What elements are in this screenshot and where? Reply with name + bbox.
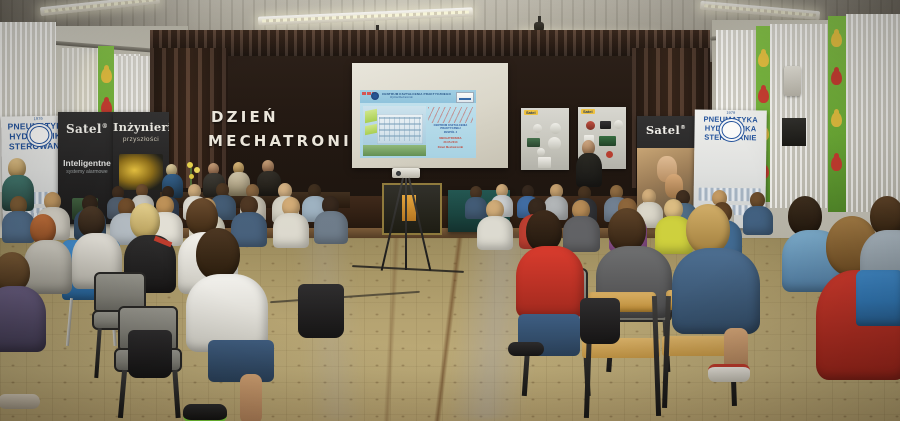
slide-line-6: Dzień Mechatroniki <box>428 146 473 149</box>
assembly-hall-photo: DZIEŃ MECHATRONIKI CENTRUM KSZTAŁCENIA P… <box>0 0 900 421</box>
projector <box>392 168 420 178</box>
board-part-4 <box>548 137 561 150</box>
board-part-6 <box>538 157 551 168</box>
wall-speaker-icon <box>784 66 801 96</box>
speaker-body <box>576 153 602 187</box>
stage-banner-line2: MECHATRONIKI <box>208 132 375 150</box>
shoe-icon <box>708 364 750 382</box>
head <box>196 228 240 280</box>
building-lawn <box>363 145 426 156</box>
shoe-icon <box>183 404 227 421</box>
slide-header-subtitle: Wydział Mechatroniki <box>390 96 413 99</box>
slide-building-photo <box>363 106 426 156</box>
stage-banner-line1: DZIEŃ <box>211 108 279 126</box>
satel-brand-right: Satel® <box>637 123 695 137</box>
presentation-slide: CENTRUM KSZTAŁCENIA PRAKTYCZNEGO Wydział… <box>360 90 476 158</box>
leg-skin <box>240 374 262 421</box>
projection-screen: CENTRUM KSZTAŁCENIA PRAKTYCZNEGO Wydział… <box>352 63 508 168</box>
inzynieria-line2: przyszłości <box>113 136 169 143</box>
wall-panel <box>782 118 806 146</box>
satel-brand-left-text: Satel <box>66 122 102 136</box>
board-part-5 <box>537 148 545 156</box>
backpack-right <box>580 298 620 344</box>
board-r-part-2 <box>600 121 611 129</box>
head <box>130 203 160 239</box>
board-part-3 <box>527 138 540 147</box>
board-r-part-6 <box>606 151 613 158</box>
satel-brand-left-mark: ® <box>102 123 108 130</box>
satel-brand-right-mark: ® <box>680 125 686 131</box>
building-sign-1 <box>365 109 377 124</box>
stage-valance-curtain <box>150 30 710 56</box>
slide-badge-icon <box>456 92 474 103</box>
building-shape <box>377 114 423 144</box>
slide-line-3: ZESPÓŁ 4 <box>428 131 473 134</box>
body <box>273 213 309 248</box>
board-part-1 <box>533 124 542 133</box>
shoe-icon <box>0 394 40 409</box>
satel-display-board-left: Satel <box>521 108 569 170</box>
body <box>314 211 348 244</box>
shoe-icon <box>508 342 544 356</box>
satel-board-logo-right: Satel <box>581 109 595 114</box>
body <box>477 216 513 250</box>
shorts <box>208 340 274 382</box>
satel-brand-right-text: Satel <box>646 123 680 137</box>
body <box>516 246 584 318</box>
board-r-part-1 <box>586 121 595 130</box>
inzynieria-line1: Inżynieria <box>113 120 169 134</box>
body <box>672 248 760 334</box>
body <box>465 197 487 219</box>
backpack-left <box>298 284 344 338</box>
body <box>0 286 46 352</box>
slide-pattern <box>428 107 473 123</box>
head <box>686 204 730 254</box>
backpack-left-2 <box>128 330 172 378</box>
body <box>563 216 600 252</box>
building-sign-2 <box>365 124 377 136</box>
satel-sub2-left: systemy alarmowe <box>58 169 116 175</box>
tripod-leg-center <box>405 178 407 270</box>
pneumatyka-logo-right-icon <box>718 118 744 142</box>
body <box>743 206 773 235</box>
tulip-banner-right-2 <box>828 16 846 212</box>
curtain-right-2 <box>770 24 828 208</box>
satel-brand-left: Satel® <box>58 122 116 136</box>
satel-board-logo-left: Satel <box>524 110 538 115</box>
body <box>24 240 72 294</box>
slide-line-5: 20.05.2013 <box>428 141 473 144</box>
satel-sub1-left: Inteligentne <box>58 158 116 168</box>
board-r-part-5 <box>599 136 616 146</box>
board-part-2 <box>550 123 561 134</box>
slide-text-block: CENTRUM KSZTAŁCENIA PRAKTYCZNEJ ZESPÓŁ 4… <box>428 124 473 149</box>
curtain-right-3 <box>846 14 900 212</box>
board-r-part-3 <box>614 120 623 129</box>
slide-logo-icon <box>371 92 379 100</box>
chair-back <box>856 270 900 326</box>
